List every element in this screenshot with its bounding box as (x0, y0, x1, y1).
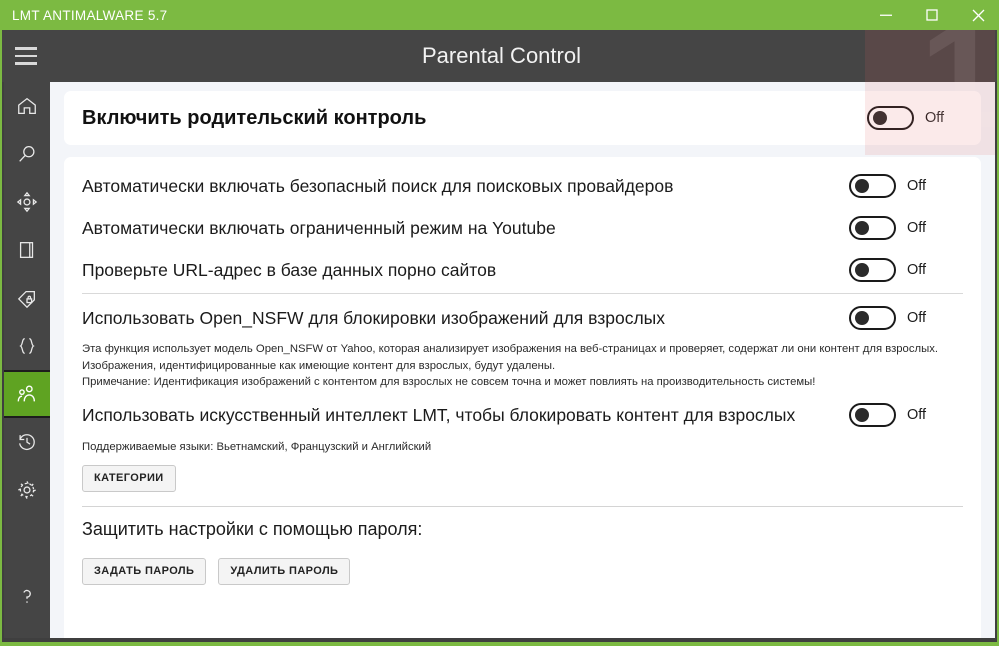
set-password-button[interactable]: ЗАДАТЬ ПАРОЛЬ (82, 558, 206, 585)
setting-label: Автоматически включать безопасный поиск … (82, 176, 849, 197)
url-check-toggle-control[interactable]: Off (849, 258, 933, 282)
setting-row-url-check: Проверьте URL-адрес в базе данных порно … (64, 249, 981, 291)
setting-label: Проверьте URL-адрес в базе данных порно … (82, 260, 849, 281)
tag-lock-icon (16, 287, 38, 309)
sidebar-item-reports[interactable] (4, 226, 50, 274)
safe-search-toggle-switch[interactable] (849, 174, 896, 198)
categories-button-row: КАТЕГОРИИ (64, 453, 981, 492)
lmt-ai-toggle-switch[interactable] (849, 403, 896, 427)
master-toggle-switch[interactable] (867, 106, 914, 130)
sidebar (4, 82, 50, 638)
main-content: Включить родительский контроль Off Автом… (50, 82, 995, 638)
titlebar: LMT ANTIMALWARE 5.7 (2, 0, 999, 30)
setting-row-lmt-ai: Использовать искусственный интеллект LMT… (64, 395, 981, 435)
supported-languages-note: Поддерживаемые языки: Вьетнамский, Франц… (64, 435, 981, 453)
maximize-button[interactable] (909, 0, 955, 30)
master-toggle-state: Off (925, 110, 951, 126)
open-nsfw-description: Эта функция использует модель Open_NSFW … (64, 340, 981, 391)
password-section-title: Защитить настройки с помощью пароля: (64, 507, 981, 540)
password-button-row: ЗАДАТЬ ПАРОЛЬ УДАЛИТЬ ПАРОЛЬ (64, 540, 981, 585)
master-toggle-control[interactable]: Off (867, 106, 951, 130)
history-icon (16, 431, 38, 453)
document-icon (16, 239, 38, 261)
safe-search-toggle-control[interactable]: Off (849, 174, 933, 198)
description-line: Примечание: Идентификация изображений с … (82, 374, 963, 391)
remove-password-button[interactable]: УДАЛИТЬ ПАРОЛЬ (218, 558, 350, 585)
sidebar-item-settings[interactable] (4, 466, 50, 514)
app-window: LMT ANTIMALWARE 5.7 Parental Control (0, 0, 999, 646)
sidebar-item-history[interactable] (4, 418, 50, 466)
hamburger-line (15, 62, 37, 65)
app-title: LMT ANTIMALWARE 5.7 (2, 8, 168, 23)
url-check-toggle-state: Off (907, 262, 933, 278)
home-icon (16, 95, 38, 117)
description-line: Эта функция использует модель Open_NSFW … (82, 341, 963, 358)
setting-label: Автоматически включать ограниченный режи… (82, 218, 849, 239)
people-icon (16, 383, 38, 405)
code-braces-icon (16, 335, 38, 357)
setting-row-open-nsfw: Использовать Open_NSFW для блокировки из… (64, 296, 981, 340)
youtube-toggle-control[interactable]: Off (849, 216, 933, 240)
hamburger-line (15, 55, 37, 58)
youtube-toggle-switch[interactable] (849, 216, 896, 240)
sidebar-item-help[interactable] (4, 572, 50, 620)
description-line: Изображения, идентифицированные как имею… (82, 358, 963, 375)
settings-card: Автоматически включать безопасный поиск … (64, 157, 981, 638)
sidebar-item-parental-control[interactable] (4, 370, 50, 418)
lmt-ai-toggle-state: Off (907, 407, 933, 423)
youtube-toggle-state: Off (907, 220, 933, 236)
minimize-icon (879, 8, 893, 22)
setting-label: Использовать Open_NSFW для блокировки из… (82, 308, 849, 329)
toggle-knob (873, 111, 887, 125)
url-check-toggle-switch[interactable] (849, 258, 896, 282)
divider (82, 293, 963, 294)
maximize-icon (925, 8, 939, 22)
target-icon (16, 191, 38, 213)
setting-row-safe-search: Автоматически включать безопасный поиск … (64, 165, 981, 207)
toggle-knob (855, 221, 869, 235)
toggle-knob (855, 263, 869, 277)
master-toggle-card: Включить родительский контроль Off (64, 91, 981, 145)
toggle-knob (855, 408, 869, 422)
setting-label: Использовать искусственный интеллект LMT… (82, 405, 963, 426)
toggle-knob (855, 179, 869, 193)
sidebar-item-tools[interactable] (4, 322, 50, 370)
sidebar-item-scan[interactable] (4, 130, 50, 178)
hamburger-line (15, 47, 37, 50)
open-nsfw-toggle-state: Off (907, 310, 933, 326)
search-icon (16, 143, 38, 165)
sidebar-item-home[interactable] (4, 82, 50, 130)
sidebar-item-privacy[interactable] (4, 274, 50, 322)
close-icon (971, 8, 986, 23)
gear-icon (16, 479, 38, 501)
categories-button[interactable]: КАТЕГОРИИ (82, 465, 176, 492)
open-nsfw-toggle-control[interactable]: Off (849, 306, 933, 330)
sidebar-item-protection[interactable] (4, 178, 50, 226)
page-title: Parental Control (2, 43, 999, 69)
master-toggle-label: Включить родительский контроль (82, 107, 867, 130)
toggle-knob (855, 311, 869, 325)
setting-row-youtube-restricted: Автоматически включать ограниченный режи… (64, 207, 981, 249)
safe-search-toggle-state: Off (907, 178, 933, 194)
close-button[interactable] (955, 0, 999, 30)
help-icon (16, 585, 38, 607)
lmt-ai-toggle-control[interactable]: Off (849, 403, 933, 427)
minimize-button[interactable] (863, 0, 909, 30)
open-nsfw-toggle-switch[interactable] (849, 306, 896, 330)
header-bar: Parental Control (2, 30, 999, 82)
hamburger-menu-icon[interactable] (2, 30, 50, 82)
